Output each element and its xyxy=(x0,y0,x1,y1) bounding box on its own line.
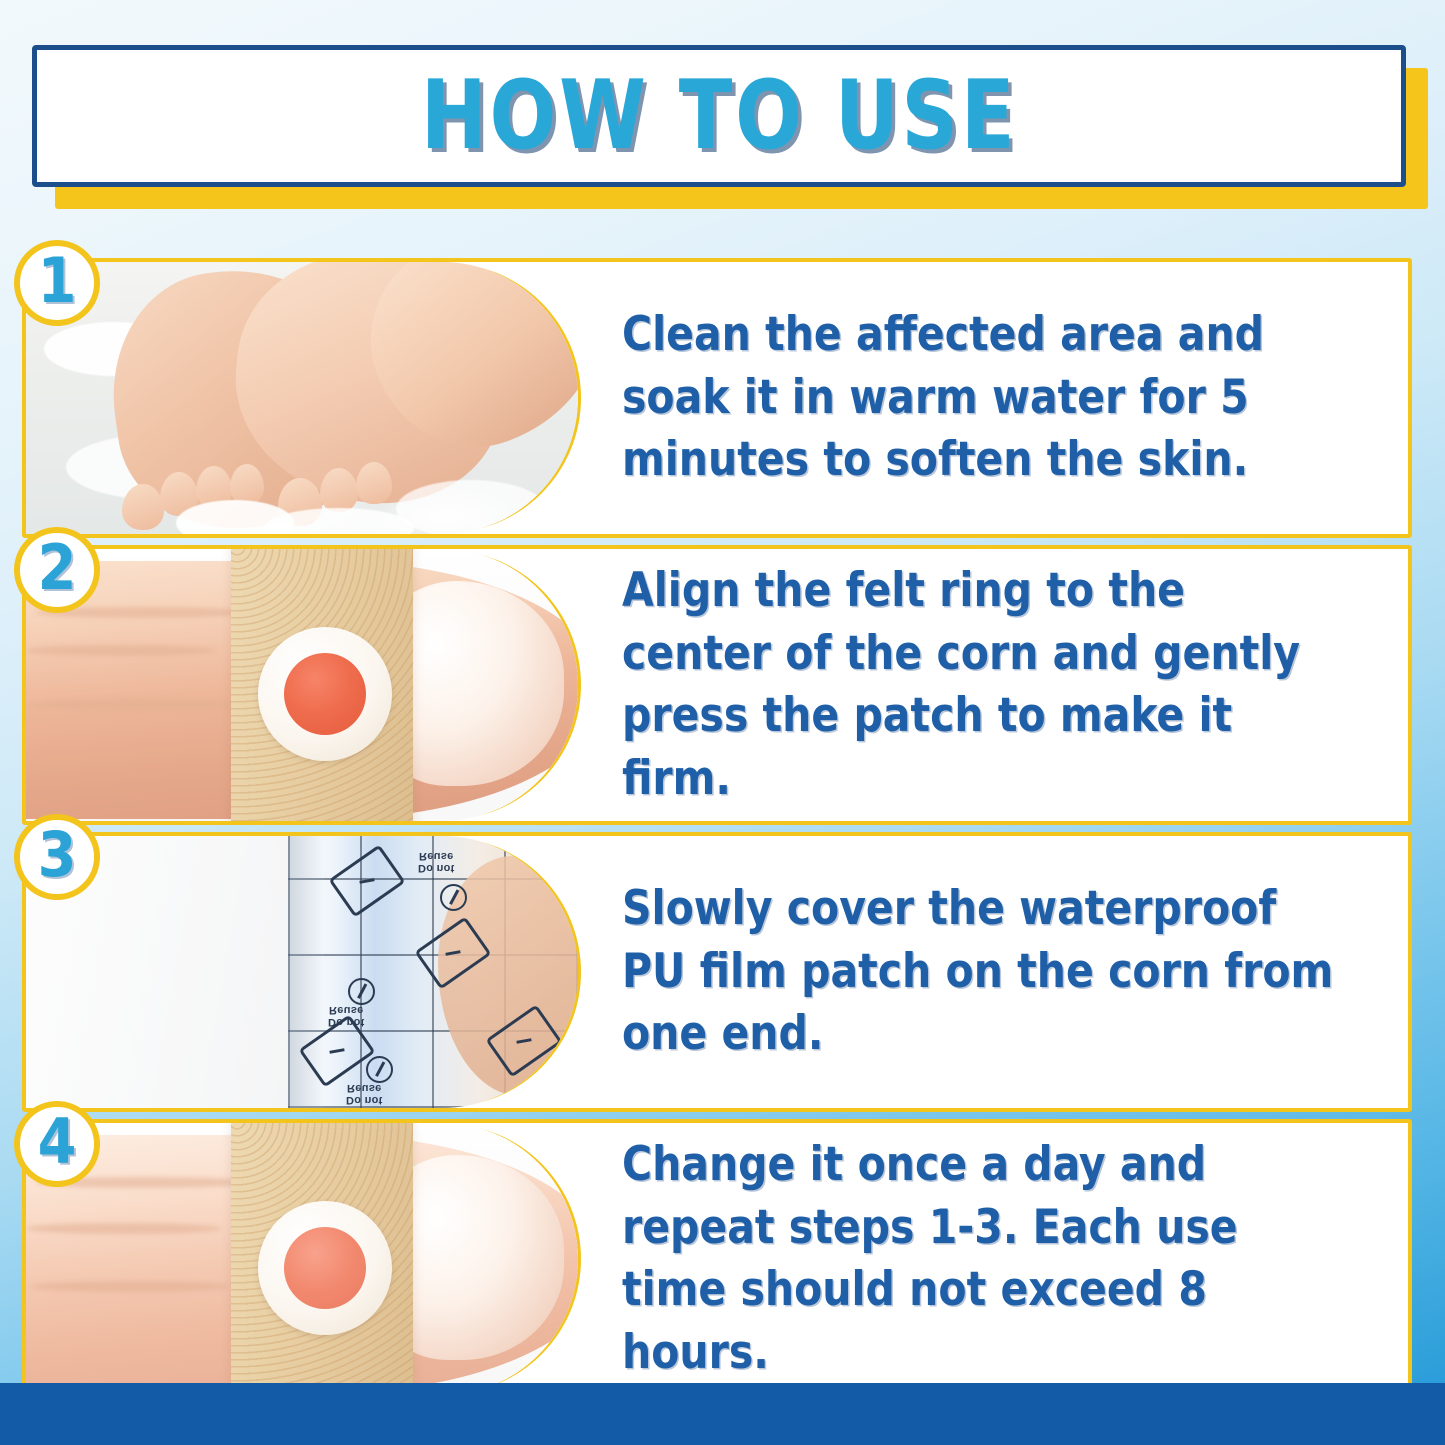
step-number-2: 2 xyxy=(38,537,77,599)
do-not-reuse-label: Do not Reuse xyxy=(328,1004,365,1027)
do-not-reuse-icon xyxy=(366,1056,393,1083)
reuse-line-1: Do not xyxy=(328,1016,365,1028)
do-not-reuse-label: Do not Reuse xyxy=(418,850,455,873)
step-instruction-1: Clean the affected area and soak it in w… xyxy=(622,304,1344,492)
step-number-badge-3: 3 xyxy=(14,814,100,900)
skin-crease xyxy=(30,699,235,710)
toe-patch-photo-repeat xyxy=(26,1123,578,1395)
reuse-line-2: Reuse xyxy=(329,1005,364,1017)
step-text-block-1: Clean the affected area and soak it in w… xyxy=(578,262,1408,534)
step-text-block-4: Change it once a day and repeat steps 1-… xyxy=(578,1123,1408,1395)
footer-band xyxy=(0,1383,1445,1445)
step-photo-3: Do not Reuse Do not Reuse Do not Reuse xyxy=(26,836,578,1108)
film-sheet: Do not Reuse Do not Reuse Do not Reuse xyxy=(288,836,578,1108)
reuse-line-2: Reuse xyxy=(419,851,454,863)
toe xyxy=(356,462,392,504)
foam-patch xyxy=(396,480,546,534)
step-text-block-2: Align the felt ring to the center of the… xyxy=(578,549,1408,821)
step-card-1: 1 xyxy=(22,258,1412,538)
page-title: HOW TO USE xyxy=(421,69,1017,164)
corn-medicated-disc xyxy=(284,1227,366,1309)
do-not-reuse-icon xyxy=(440,884,467,911)
header-box: HOW TO USE xyxy=(32,45,1406,187)
do-not-reuse-label: Do not Reuse xyxy=(346,1082,383,1105)
step-number-badge-2: 2 xyxy=(14,527,100,613)
step-instruction-2: Align the felt ring to the center of the… xyxy=(622,560,1344,810)
step-instruction-3: Slowly cover the waterproof PU film patc… xyxy=(622,878,1344,1066)
header-banner: HOW TO USE xyxy=(32,45,1406,187)
step-text-block-3: Slowly cover the waterproof PU film patc… xyxy=(578,836,1408,1108)
steps-list: 1 xyxy=(22,258,1412,1406)
skin-crease xyxy=(26,1223,221,1234)
toe xyxy=(320,468,358,512)
step-photo-2 xyxy=(26,549,578,821)
reuse-line-1: Do not xyxy=(418,862,455,874)
toe xyxy=(122,484,164,530)
step-number-4: 4 xyxy=(38,1111,77,1173)
feet-soaking-photo xyxy=(26,262,578,534)
pu-film-photo: Do not Reuse Do not Reuse Do not Reuse xyxy=(26,836,578,1108)
reuse-line-1: Do not xyxy=(346,1094,383,1106)
step-photo-4 xyxy=(26,1123,578,1395)
reuse-line-2: Reuse xyxy=(347,1083,382,1095)
step-photo-1 xyxy=(26,262,578,534)
skin-crease xyxy=(30,1281,230,1292)
step-card-4: 4 Change it once a day and repeat steps … xyxy=(22,1119,1412,1399)
step-number-badge-4: 4 xyxy=(14,1101,100,1187)
step-number-badge-1: 1 xyxy=(14,240,100,326)
step-number-3: 3 xyxy=(38,824,77,886)
infographic-page: HOW TO USE 1 xyxy=(0,0,1445,1445)
do-not-reuse-icon xyxy=(348,978,375,1005)
toe xyxy=(230,464,264,504)
step-number-1: 1 xyxy=(38,250,77,312)
step-card-3: 3 xyxy=(22,832,1412,1112)
toe-patch-photo xyxy=(26,549,578,821)
step-card-2: 2 Align the felt ring to the center of t… xyxy=(22,545,1412,825)
step-instruction-4: Change it once a day and repeat steps 1-… xyxy=(622,1134,1344,1384)
corn-medicated-disc xyxy=(284,653,366,735)
skin-crease xyxy=(26,645,216,656)
